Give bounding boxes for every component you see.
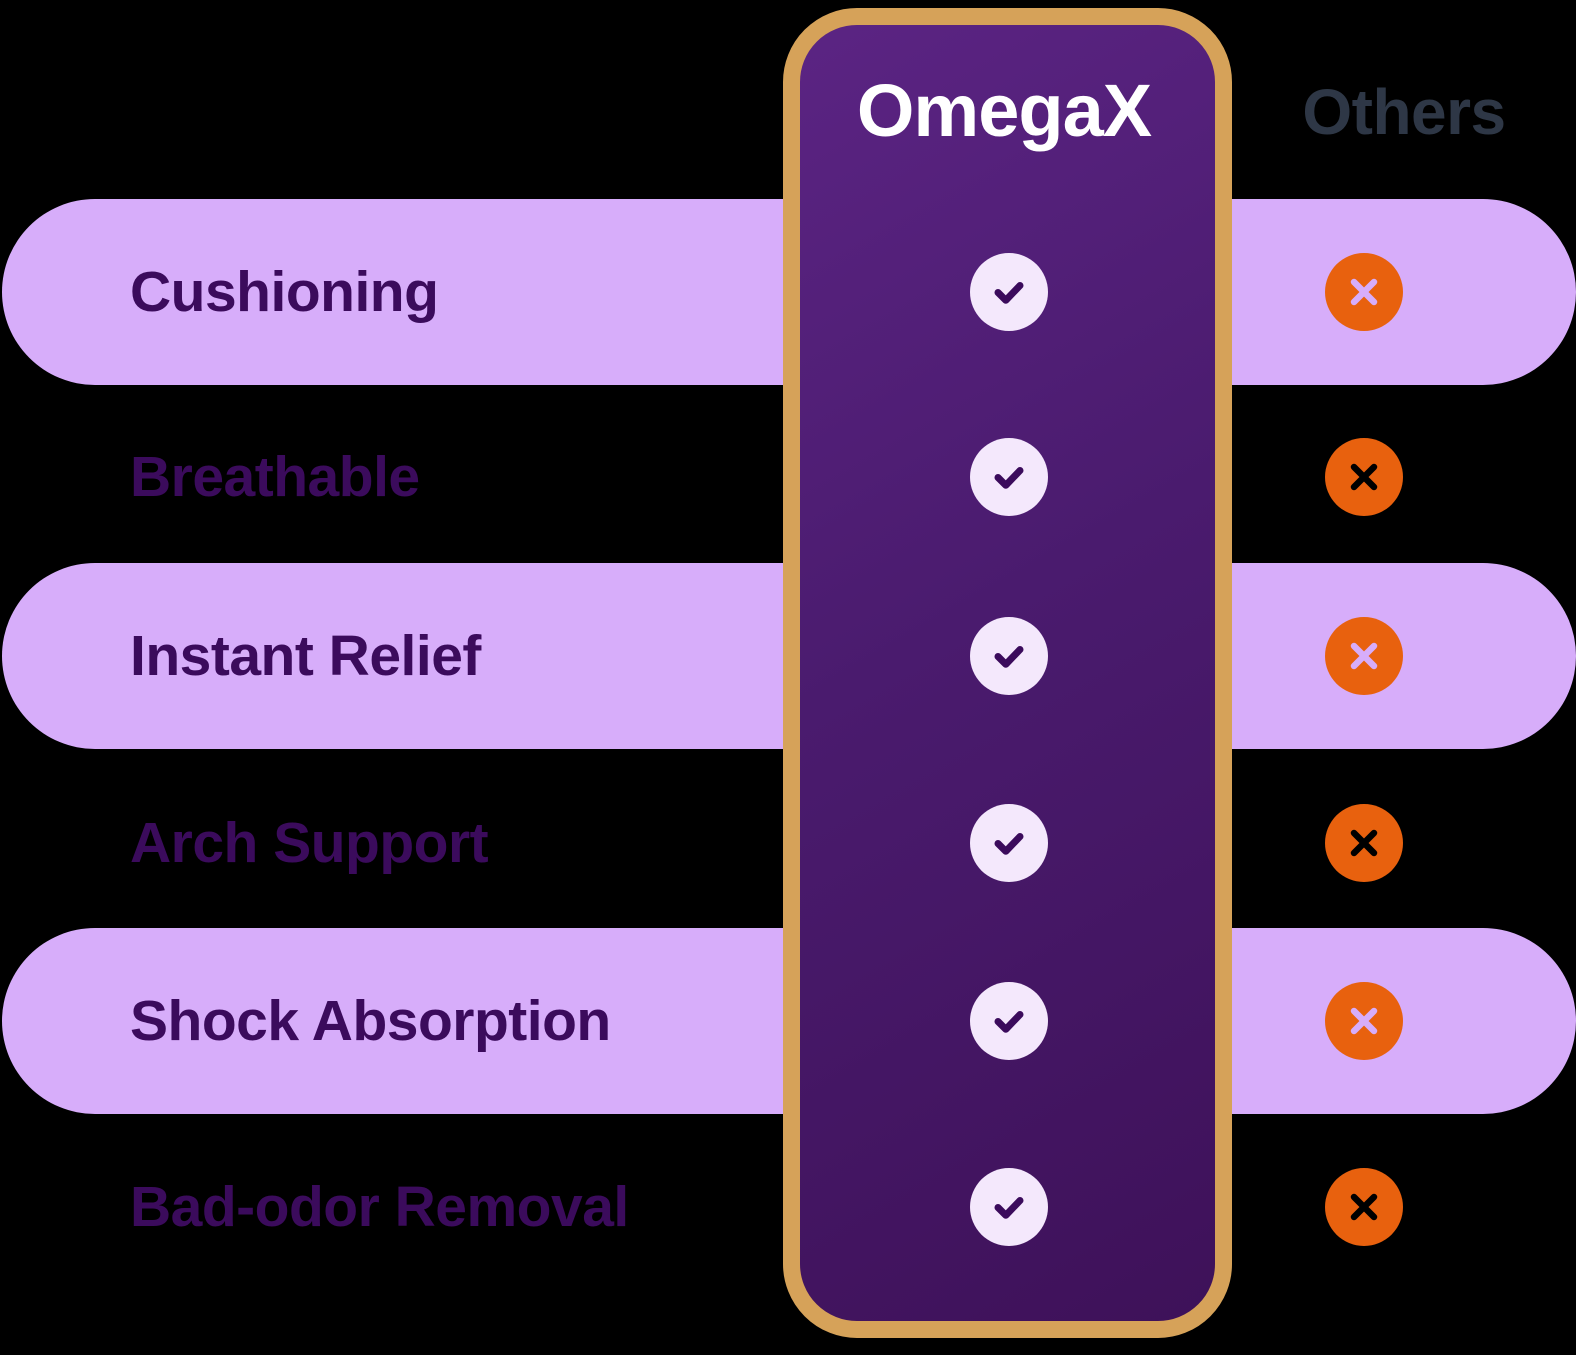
cross-icon (1325, 253, 1403, 331)
omegax-check-cell (970, 438, 1048, 516)
others-cross-cell (1325, 804, 1403, 882)
feature-label: Instant Relief (130, 616, 770, 696)
others-cross-cell (1325, 438, 1403, 516)
brand-column-header: OmegaX (800, 74, 1208, 148)
comparison-table: OmegaX Others CushioningBreathableInstan… (0, 0, 1576, 1355)
others-cross-cell (1325, 1168, 1403, 1246)
cross-icon (1325, 982, 1403, 1060)
feature-label: Bad-odor Removal (130, 1167, 770, 1247)
omegax-check-cell (970, 253, 1048, 331)
others-cross-cell (1325, 253, 1403, 331)
check-icon (970, 438, 1048, 516)
check-icon (970, 253, 1048, 331)
others-cross-cell (1325, 617, 1403, 695)
omegax-check-cell (970, 617, 1048, 695)
others-cross-cell (1325, 982, 1403, 1060)
feature-label: Arch Support (130, 803, 770, 883)
cross-icon (1325, 1168, 1403, 1246)
omegax-check-cell (970, 982, 1048, 1060)
check-icon (970, 1168, 1048, 1246)
feature-label: Shock Absorption (130, 981, 770, 1061)
cross-icon (1325, 617, 1403, 695)
check-icon (970, 617, 1048, 695)
omegax-check-cell (970, 1168, 1048, 1246)
cross-icon (1325, 804, 1403, 882)
check-icon (970, 804, 1048, 882)
cross-icon (1325, 438, 1403, 516)
feature-label: Breathable (130, 437, 770, 517)
feature-label: Cushioning (130, 252, 770, 332)
check-icon (970, 982, 1048, 1060)
others-column-header: Others (1232, 80, 1576, 144)
omegax-check-cell (970, 804, 1048, 882)
